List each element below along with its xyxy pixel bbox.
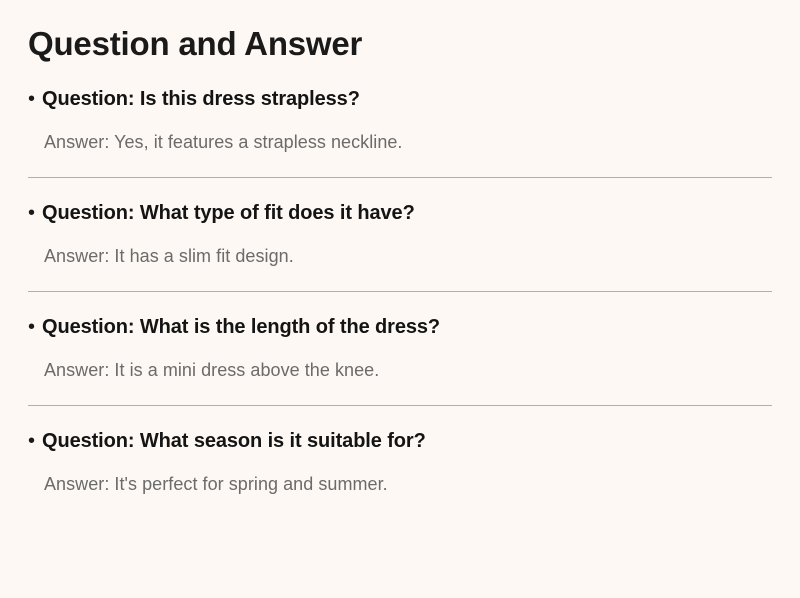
page-title: Question and Answer — [28, 0, 772, 64]
qa-page: Question and Answer • Question: Is this … — [0, 0, 800, 598]
qa-answer-text: Answer: Yes, it features a strapless nec… — [28, 112, 772, 177]
list-item: • Question: What is the length of the dr… — [28, 291, 772, 405]
bullet-icon: • — [28, 428, 42, 454]
qa-question-row: • Question: What season is it suitable f… — [28, 406, 772, 454]
list-item: • Question: What type of fit does it hav… — [28, 177, 772, 291]
bullet-icon: • — [28, 86, 42, 112]
qa-question-row: • Question: What type of fit does it hav… — [28, 178, 772, 226]
qa-answer-text: Answer: It's perfect for spring and summ… — [28, 454, 772, 519]
qa-question-text: Question: What season is it suitable for… — [42, 428, 426, 454]
qa-answer-text: Answer: It is a mini dress above the kne… — [28, 340, 772, 405]
qa-question-text: Question: What is the length of the dres… — [42, 314, 440, 340]
qa-question-row: • Question: Is this dress strapless? — [28, 64, 772, 112]
qa-list: • Question: Is this dress strapless? Ans… — [28, 64, 772, 519]
qa-question-text: Question: Is this dress strapless? — [42, 86, 360, 112]
bullet-icon: • — [28, 314, 42, 340]
qa-question-text: Question: What type of fit does it have? — [42, 200, 415, 226]
qa-question-row: • Question: What is the length of the dr… — [28, 292, 772, 340]
list-item: • Question: Is this dress strapless? Ans… — [28, 64, 772, 177]
qa-answer-text: Answer: It has a slim fit design. — [28, 226, 772, 291]
bullet-icon: • — [28, 200, 42, 226]
list-item: • Question: What season is it suitable f… — [28, 405, 772, 519]
